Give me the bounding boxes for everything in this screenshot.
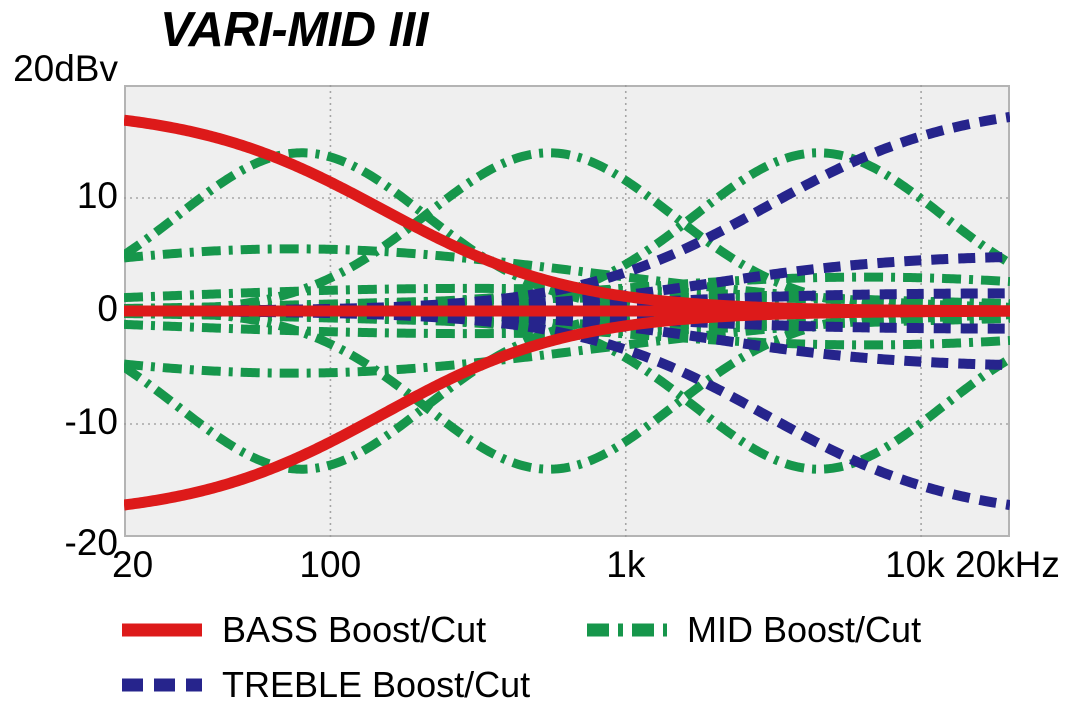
x-axis-label-20: 20 [112,546,153,583]
y-axis-label-minus20: -20 [0,524,118,561]
plot-area [124,85,1010,537]
eq-response-curves [124,85,1010,537]
legend-item-mid: MID Boost/Cut [585,612,921,648]
legend-item-bass: BASS Boost/Cut [120,612,486,648]
legend-swatch-mid-dashdot [585,615,669,645]
y-axis-label-20: 20dBv [0,50,118,87]
chart-page: VARI-MID III 20dBv 10 0 -10 -20 20 100 1… [0,0,1080,711]
x-axis-label-10k: 10k [885,546,945,583]
legend-label-bass: BASS Boost/Cut [222,612,486,648]
y-axis-label-minus10: -10 [0,403,118,440]
y-axis-label-10: 10 [0,177,118,214]
y-axis-label-0: 0 [0,290,118,327]
chart-legend: BASS Boost/Cut MID Boost/Cut TREBLE Boos… [0,600,1080,711]
legend-item-treble: TREBLE Boost/Cut [120,667,530,703]
legend-swatch-bass-solid [120,615,204,645]
legend-label-mid: MID Boost/Cut [687,612,921,648]
x-axis-label-100: 100 [299,546,361,583]
page-title: VARI-MID III [160,2,428,58]
x-axis-label-1k: 1k [606,546,645,583]
x-axis-label-20khz: 20kHz [955,546,1060,583]
legend-swatch-treble-dashed [120,670,204,700]
legend-label-treble: TREBLE Boost/Cut [222,667,530,703]
